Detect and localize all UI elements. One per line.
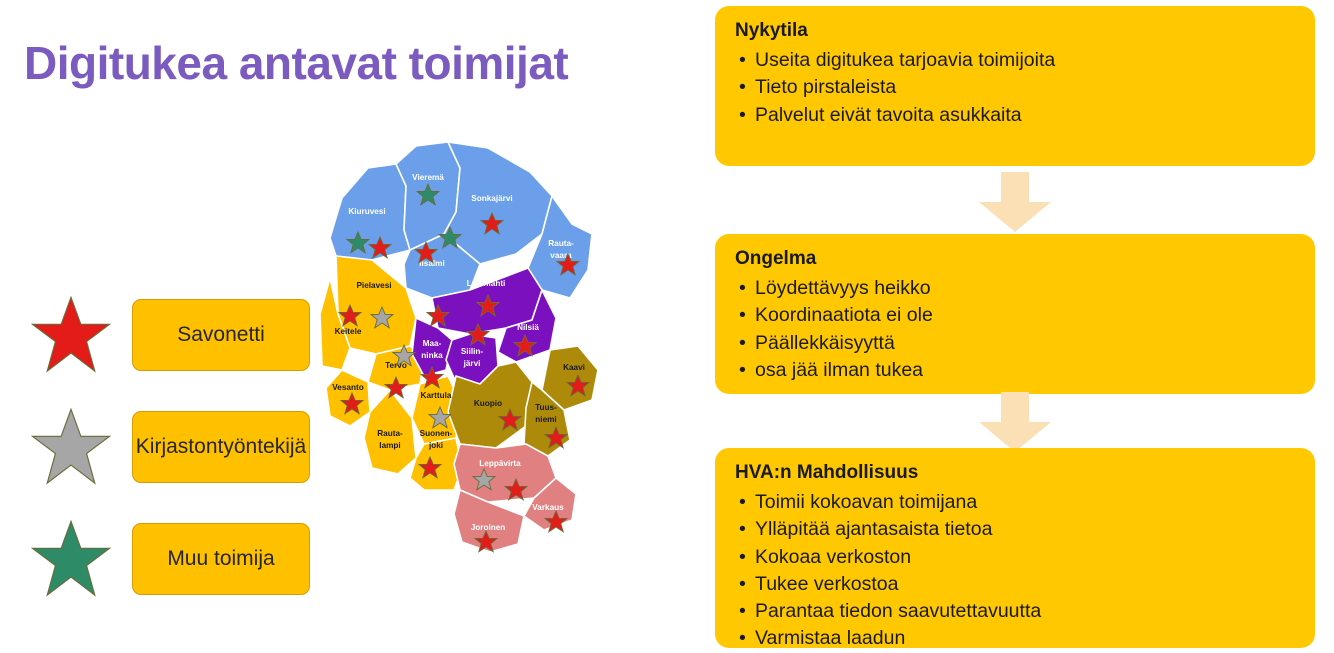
label-suonenjoki-2: joki — [428, 441, 443, 450]
label-tervo: Tervo — [385, 361, 407, 370]
region-sonkajarvi[interactable] — [444, 142, 552, 264]
label-maaninka-1: Maa- — [423, 339, 442, 348]
label-suonenjoki-1: Suonen- — [420, 429, 453, 438]
bullet-glyph: • — [739, 74, 746, 101]
bullet-item: •Päällekkäisyyttä — [733, 330, 1297, 357]
bullet-glyph: • — [739, 489, 746, 516]
legend: Savonetti Kirjaston työntekijä Muu toimi… — [22, 285, 302, 621]
bullet-text: Varmistaa laadun — [755, 627, 905, 649]
bullet-text: Useita digitukea tarjoavia toimijoita — [755, 49, 1055, 71]
bullet-glyph: • — [739, 544, 746, 571]
bullet-item: •Parantaa tiedon saavutettavuutta — [733, 598, 1297, 625]
region-vesanto[interactable] — [326, 370, 370, 426]
bullet-text: Tieto pirstaleista — [755, 76, 896, 98]
bullet-text: Toimii kokoavan toimijana — [755, 491, 977, 513]
bullet-item: •Tieto pirstaleista — [733, 74, 1297, 101]
panel-bullets-nykytila: •Useita digitukea tarjoavia toimijoita •… — [733, 47, 1297, 129]
label-lapinlahti: Lapinlahti — [467, 279, 506, 288]
bullet-text: Kokoaa verkoston — [755, 546, 911, 568]
bullet-item: •Varmistaa laadun — [733, 625, 1297, 652]
panel-hvan-mahdollisuus[interactable]: HVA:n Mahdollisuus •Toimii kokoavan toim… — [715, 448, 1315, 648]
bullet-glyph: • — [739, 47, 746, 74]
page-title: Digitukea antavat toimijat — [24, 36, 568, 90]
bullet-text: osa jää ilman tukea — [755, 359, 923, 381]
bullet-item: •Palvelut eivät tavoita asukkaita — [733, 102, 1297, 129]
label-keitele: Keitele — [335, 327, 362, 336]
bullet-item: •Tukee verkostoa — [733, 571, 1297, 598]
bullet-glyph: • — [739, 516, 746, 543]
label-kiuruvesi: Kiuruvesi — [348, 207, 385, 216]
bullet-text: Koordinaatiota ei ole — [755, 304, 933, 326]
gray-star-icon — [30, 407, 112, 487]
bullet-text: Päällekkäisyyttä — [755, 332, 895, 354]
bullet-glyph: • — [739, 357, 746, 384]
bullet-item: •Löydettävyys heikko — [733, 275, 1297, 302]
bullet-text: Ylläpitää ajantasaista tietoa — [755, 518, 992, 540]
legend-row-savonetti: Savonetti — [22, 285, 302, 385]
bullet-item: •Kokoaa verkoston — [733, 544, 1297, 571]
panel-ongelma[interactable]: Ongelma •Löydettävyys heikko •Koordinaat… — [715, 234, 1315, 394]
label-rautalampi-2: lampi — [379, 441, 400, 450]
down-arrow-icon-2 — [973, 392, 1057, 454]
label-tuusniemi-1: Tuus- — [535, 403, 557, 412]
legend-text: Savonetti — [177, 322, 265, 348]
legend-row-library-worker: Kirjaston työntekijä — [22, 397, 302, 497]
green-star-icon — [30, 519, 112, 599]
panel-title-nykytila: Nykytila — [735, 20, 1297, 42]
label-pielavesi: Pielavesi — [356, 281, 391, 290]
left-panel: Digitukea antavat toimijat Savonetti Kir… — [0, 0, 700, 645]
bullet-glyph: • — [739, 571, 746, 598]
panel-nykytila[interactable]: Nykytila •Useita digitukea tarjoavia toi… — [715, 6, 1315, 166]
region-map[interactable]: Kiuruvesi Vieremä Sonkajärvi Iisalmi Rau… — [320, 138, 620, 553]
bullet-item: •Useita digitukea tarjoavia toimijoita — [733, 47, 1297, 74]
bullet-text: Parantaa tiedon saavutettavuutta — [755, 600, 1041, 622]
panel-bullets-hvan-mahdollisuus: •Toimii kokoavan toimijana •Ylläpitää aj… — [733, 489, 1297, 653]
bullet-text: Tukee verkostoa — [755, 573, 898, 595]
bullet-item: •Koordinaatiota ei ole — [733, 302, 1297, 329]
label-rautalampi-1: Rauta- — [377, 429, 403, 438]
bullet-glyph: • — [739, 302, 746, 329]
panel-title-hvan-mahdollisuus: HVA:n Mahdollisuus — [735, 462, 1297, 484]
label-kuopio: Kuopio — [474, 399, 502, 408]
label-maaninka-2: ninka — [421, 351, 443, 360]
bullet-text: Palvelut eivät tavoita asukkaita — [755, 104, 1022, 126]
label-rautavaara-1: Rauta- — [548, 239, 574, 248]
legend-label-library-worker[interactable]: Kirjaston työntekijä — [132, 411, 310, 483]
bullet-glyph: • — [739, 102, 746, 129]
label-kaavi: Kaavi — [563, 363, 585, 372]
label-nilsia: Nilsiä — [517, 323, 539, 332]
label-tuusniemi-2: niemi — [535, 415, 556, 424]
legend-text: Muu toimija — [167, 546, 274, 572]
label-joroinen: Joroinen — [471, 523, 506, 532]
bullet-glyph: • — [739, 275, 746, 302]
bullet-item: •Toimii kokoavan toimijana — [733, 489, 1297, 516]
legend-label-savonetti[interactable]: Savonetti — [132, 299, 310, 371]
bullet-glyph: • — [739, 598, 746, 625]
bullet-item: •osa jää ilman tukea — [733, 357, 1297, 384]
red-star-icon — [30, 295, 112, 375]
label-vesanto: Vesanto — [332, 383, 363, 392]
legend-text-line2: työntekijä — [218, 434, 307, 460]
map-svg: Kiuruvesi Vieremä Sonkajärvi Iisalmi Rau… — [320, 138, 620, 553]
bullet-glyph: • — [739, 625, 746, 652]
bullet-text: Löydettävyys heikko — [755, 277, 931, 299]
label-siilinjarvi-2: järvi — [463, 359, 481, 368]
bullet-glyph: • — [739, 330, 746, 357]
bullet-item: •Ylläpitää ajantasaista tietoa — [733, 516, 1297, 543]
label-leppavirta: Leppävirta — [479, 459, 521, 468]
legend-label-other-actor[interactable]: Muu toimija — [132, 523, 310, 595]
label-siilinjarvi-1: Siilin- — [461, 347, 484, 356]
right-panel-stack: Nykytila •Useita digitukea tarjoavia toi… — [715, 0, 1334, 645]
down-arrow-icon-1 — [973, 172, 1057, 234]
label-sonkajarvi: Sonkajärvi — [471, 194, 512, 203]
legend-row-other-actor: Muu toimija — [22, 509, 302, 609]
panel-bullets-ongelma: •Löydettävyys heikko •Koordinaatiota ei … — [733, 275, 1297, 384]
panel-title-ongelma: Ongelma — [735, 248, 1297, 270]
label-vierema: Vieremä — [412, 173, 444, 182]
label-varkaus: Varkaus — [532, 503, 564, 512]
legend-text-line1: Kirjaston — [136, 434, 218, 460]
label-karttula: Karttula — [421, 391, 452, 400]
